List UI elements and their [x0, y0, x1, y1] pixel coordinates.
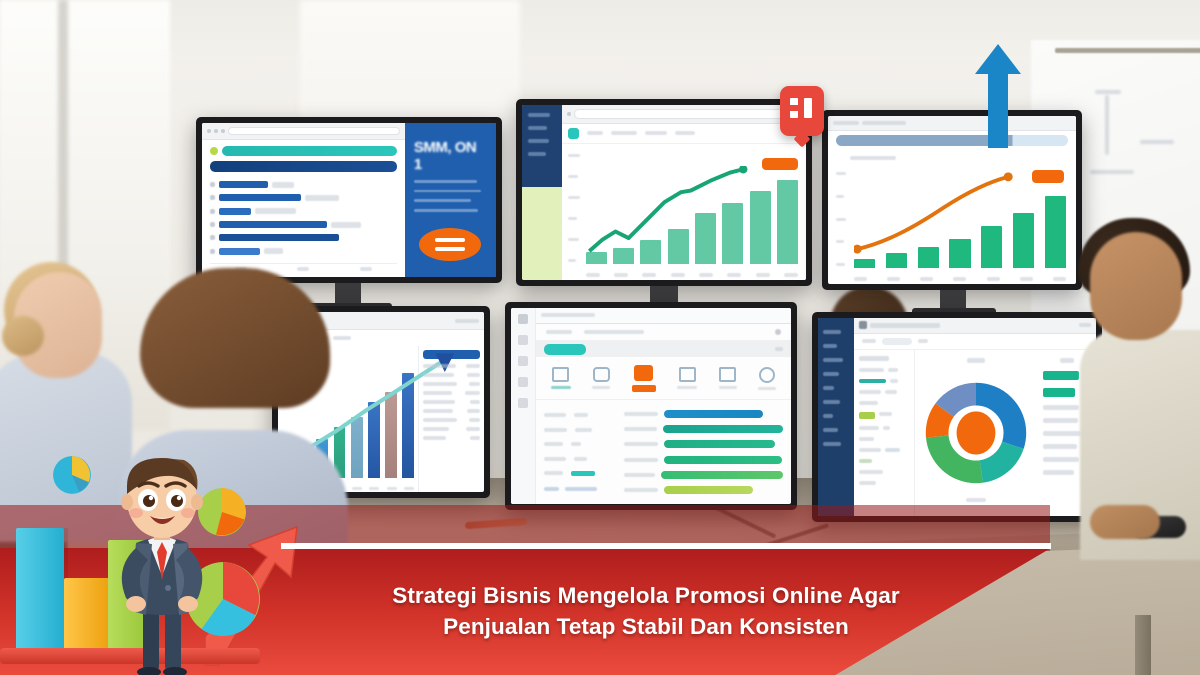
y-axis-tick: [568, 175, 578, 178]
legend-title: [1060, 358, 1074, 363]
legend-value: [467, 373, 480, 377]
calendar-icon: [719, 367, 736, 382]
menu-item[interactable]: [584, 330, 644, 334]
x-axis-tick: [586, 273, 600, 277]
hbar: [664, 456, 782, 464]
window-title: [870, 323, 940, 328]
field-label: [544, 428, 567, 432]
toolbar-item-chat[interactable]: [592, 367, 610, 389]
x-axis-tick: [1053, 277, 1066, 281]
toolbar-item-label: [677, 386, 697, 389]
banner-top-divider: [281, 543, 1051, 549]
hbar: [661, 471, 783, 479]
axis-tick-label: [360, 267, 372, 271]
list-label: [331, 222, 361, 228]
y-axis-tick: [836, 240, 844, 243]
sidebar-accent-panel: [522, 187, 562, 280]
rail-icon[interactable]: [518, 314, 528, 324]
field-label: [544, 457, 565, 461]
axis-tick-label: [297, 267, 309, 271]
filter-value: [885, 448, 900, 452]
menu-item[interactable]: [546, 330, 572, 334]
legend-label: [423, 409, 453, 413]
filter-value: [885, 390, 897, 394]
monitor-top-center: [516, 99, 812, 286]
filter-group-title: [859, 356, 889, 361]
monitor-top-left-screen[interactable]: SMM, ON 1: [202, 123, 496, 277]
field-label: [544, 442, 563, 446]
icon-toolbar[interactable]: [536, 357, 791, 400]
filter-item-active[interactable]: [859, 379, 886, 383]
legend-chip: [1043, 371, 1079, 380]
chart-tooltip: [1032, 170, 1064, 183]
menu-line-icon: [435, 238, 465, 242]
x-axis-tick: [614, 273, 628, 277]
legend-value: [465, 391, 480, 395]
person-man-right-head: [1090, 232, 1182, 340]
hbar: [663, 425, 783, 433]
toolbar-item-label: [632, 385, 656, 392]
rail-icon[interactable]: [518, 377, 528, 387]
field-label: [544, 471, 563, 475]
toolbar-label[interactable]: [918, 339, 928, 343]
row-bullet-icon: [210, 235, 215, 240]
donut-label: [966, 498, 986, 502]
list-label: [264, 248, 283, 254]
browser-bar[interactable]: [562, 105, 806, 124]
toolbar-item-label: [758, 387, 776, 390]
whiteboard-sketch: [1095, 90, 1121, 94]
toolbar-item-user[interactable]: [758, 367, 776, 390]
hbar-label: [624, 442, 658, 446]
donut-chart: [922, 379, 1030, 487]
banner-title-line-2: Penjualan Tetap Stabil Dan Konsisten: [296, 612, 996, 642]
monitor-top-right: [822, 110, 1082, 290]
bar: [750, 191, 771, 264]
progress-bar: [836, 135, 1068, 146]
grid-icon: [552, 367, 569, 382]
y-axis-tick: [568, 238, 579, 241]
user-icon: [759, 367, 775, 383]
legend-label: [423, 427, 449, 431]
legend-label: [423, 400, 455, 404]
list-bar: [219, 194, 301, 201]
toolbar-item-label: [719, 386, 737, 389]
url-bar[interactable]: [574, 109, 801, 118]
app-icon: [859, 321, 867, 329]
hbar-label: [624, 488, 658, 492]
legend-label: [1043, 470, 1074, 475]
toolbar-item-calendar[interactable]: [719, 367, 737, 389]
status-dot-icon: [210, 147, 218, 155]
legend-value: [470, 436, 480, 440]
x-axis-tick: [699, 273, 713, 277]
menu-line-icon: [435, 247, 465, 251]
cta-button[interactable]: [419, 228, 481, 261]
x-axis-tick: [756, 273, 770, 277]
monitor-stand: [940, 290, 966, 310]
monitor-stand: [335, 283, 361, 305]
filter-label[interactable]: [333, 336, 351, 340]
rail-icon[interactable]: [518, 335, 528, 345]
hbar: [664, 440, 775, 448]
row-bullet-icon: [210, 249, 215, 254]
legend-label: [1043, 444, 1077, 449]
filter-item[interactable]: [859, 459, 872, 463]
bar: [777, 180, 798, 265]
browser-dot-icon: [207, 129, 211, 133]
toolbar-item-label: [592, 386, 610, 389]
sidebar-text-line: [414, 199, 471, 202]
x-axis-tick: [727, 273, 741, 277]
tab-label[interactable]: [645, 131, 667, 135]
hbar-label: [624, 473, 656, 477]
legend-label: [423, 436, 446, 440]
field-value: [574, 413, 588, 417]
filter-value: [883, 426, 890, 430]
x-axis-tick: [352, 487, 362, 490]
tab-label[interactable]: [862, 121, 906, 125]
sidebar-text-line: [414, 209, 478, 212]
hbar-label: [624, 427, 657, 431]
filter-item[interactable]: [859, 390, 881, 394]
sidebar-heading: SMM, ON 1: [414, 139, 487, 173]
row-bullet-icon: [210, 182, 215, 187]
forecast-line: [854, 172, 1015, 268]
list-bar: [219, 234, 339, 241]
banner-title-text: Strategi Bisnis Mengelola Promosi Online…: [296, 581, 996, 641]
url-bar[interactable]: [228, 127, 400, 135]
trend-line: [586, 166, 750, 264]
y-axis-tick: [568, 217, 577, 220]
sidebar-nav-item[interactable]: [823, 400, 840, 404]
y-axis-tick: [836, 218, 846, 221]
legend-value: [466, 364, 480, 368]
monitor-top-left-sidebar[interactable]: SMM, ON 1: [405, 123, 496, 277]
toolbar-item-label: [551, 386, 571, 389]
legend-value: [469, 382, 480, 386]
toolbar-label[interactable]: [862, 339, 876, 343]
sidebar-nav-item[interactable]: [528, 126, 547, 130]
filter-item[interactable]: [859, 481, 876, 485]
toolbar-item-chart[interactable]: [677, 367, 697, 389]
monitor-bottom-center-screen[interactable]: [511, 308, 791, 504]
y-axis-tick: [836, 263, 845, 266]
sidebar-nav-item[interactable]: [528, 152, 546, 156]
chart-icon: [679, 367, 696, 382]
tab-label[interactable]: [833, 121, 859, 125]
list-label: [305, 195, 339, 201]
legend-label: [423, 382, 457, 386]
cartoon-businessman: [96, 448, 228, 675]
list-bar: [219, 181, 268, 188]
sidebar-nav-item[interactable]: [823, 358, 843, 362]
row-bullet-icon: [210, 222, 215, 227]
row-bullet-icon: [210, 209, 215, 214]
field-value: [575, 428, 592, 432]
toolbar-item-grid[interactable]: [551, 367, 571, 389]
x-axis-tick: [854, 277, 867, 281]
link-label[interactable]: [565, 487, 598, 491]
sidebar-nav-item[interactable]: [823, 344, 837, 348]
field-label: [544, 413, 565, 417]
sidebar-nav-item[interactable]: [823, 428, 838, 432]
y-axis-tick: [836, 172, 846, 175]
x-axis-tick: [887, 277, 900, 281]
browser-bar[interactable]: [828, 116, 1076, 131]
foreground-pie-small: [53, 456, 91, 494]
sidebar-nav-item[interactable]: [823, 442, 841, 446]
red-pin-badge-icon[interactable]: [780, 86, 824, 136]
browser-dot-icon: [221, 129, 225, 133]
hbar: [664, 486, 753, 494]
toolbar-item-cart[interactable]: [632, 365, 656, 392]
x-axis-tick: [784, 273, 798, 277]
browser-bar[interactable]: [202, 123, 405, 140]
sidebar-nav-item[interactable]: [528, 139, 549, 143]
screenshot-stage: SMM, ON 1: [0, 0, 1200, 675]
tab-label[interactable]: [675, 131, 695, 135]
filter-value: [890, 379, 898, 383]
hbar: [664, 410, 763, 418]
blue-up-arrow-icon: [975, 44, 1021, 148]
sidebar-text-line: [414, 180, 477, 183]
cart-icon: [634, 365, 653, 381]
x-axis-tick: [642, 273, 656, 277]
badge-glyph-icon: [804, 98, 812, 118]
banner-title-line-1: Strategi Bisnis Mengelola Promosi Online…: [296, 581, 996, 611]
chart-title: [850, 156, 896, 160]
filter-item[interactable]: [859, 401, 878, 405]
legend-value: [466, 427, 480, 431]
chart-tooltip: [762, 158, 798, 170]
link-label[interactable]: [544, 487, 558, 491]
app-logo-icon: [568, 128, 579, 139]
hbar-label: [624, 458, 658, 462]
legend-value: [470, 400, 480, 404]
sidebar-nav-item[interactable]: [528, 113, 550, 117]
filter-value: [879, 412, 892, 416]
y-axis-tick: [568, 259, 576, 262]
window-title: [541, 313, 595, 317]
row-bullet-icon: [210, 195, 215, 200]
bar: [1013, 213, 1034, 268]
field-value-highlight: [571, 471, 595, 476]
filter-item[interactable]: [859, 426, 879, 430]
x-axis-tick: [369, 487, 379, 490]
desk-leg: [1135, 615, 1151, 675]
legend-label: [423, 418, 457, 422]
field-value: [574, 457, 587, 461]
monitor-bottom-right: [812, 312, 1102, 522]
whiteboard-sketch: [1090, 170, 1134, 174]
toolbar-pill[interactable]: [882, 338, 912, 345]
sidebar-nav-item[interactable]: [823, 414, 833, 418]
monitor-top-center-screen[interactable]: [522, 105, 806, 280]
hbar-label: [624, 412, 658, 416]
legend-label: [1043, 418, 1078, 423]
y-axis-tick: [568, 196, 580, 199]
sidebar-nav-item[interactable]: [823, 386, 834, 390]
monitor-top-right-screen[interactable]: [828, 116, 1076, 284]
filter-item[interactable]: [859, 437, 874, 441]
toolbar-label[interactable]: [455, 319, 479, 323]
filter-item-highlight[interactable]: [859, 412, 875, 419]
x-axis-tick: [953, 277, 966, 281]
legend-value: [469, 418, 480, 422]
monitor-top-left: SMM, ON 1: [196, 117, 502, 283]
legend-label: [1043, 431, 1081, 436]
more-label[interactable]: [775, 347, 783, 351]
x-axis-tick: [671, 273, 685, 277]
header-row: [210, 161, 397, 172]
person-woman-hair-bun: [2, 316, 44, 356]
legend-chip: [1043, 388, 1075, 397]
tab-label[interactable]: [587, 131, 603, 135]
list-label: [272, 182, 294, 188]
filter-item[interactable]: [859, 368, 884, 372]
chat-icon: [593, 367, 610, 382]
badge-glyph-icon: [787, 105, 801, 111]
x-axis-tick: [1020, 277, 1033, 281]
filter-value: [888, 368, 898, 372]
bar: [1045, 196, 1066, 268]
active-tab-pill[interactable]: [544, 344, 586, 355]
browser-bar[interactable]: [854, 318, 1096, 334]
legend-label: [423, 373, 454, 377]
filter-item[interactable]: [859, 470, 883, 474]
whiteboard-sketch: [1105, 95, 1109, 155]
window-controls[interactable]: [1079, 323, 1091, 327]
donut-chart-title: [967, 358, 985, 363]
y-axis-tick: [836, 195, 844, 198]
foreground-bar-blue: [16, 528, 64, 660]
list-bar: [219, 208, 251, 215]
browser-bar[interactable]: [536, 308, 791, 324]
browser-dot-icon: [567, 112, 571, 116]
x-axis-tick: [987, 277, 1000, 281]
sidebar-nav-item[interactable]: [823, 330, 841, 334]
list-bar: [219, 221, 327, 228]
field-value: [571, 442, 581, 446]
legend-label: [423, 364, 456, 368]
x-axis-tick: [920, 277, 933, 281]
whiteboard-sketch: [1140, 140, 1174, 144]
rail-icon[interactable]: [518, 356, 528, 366]
tab-label[interactable]: [611, 131, 637, 135]
cursor-icon: [775, 329, 781, 335]
y-axis-tick: [568, 154, 580, 157]
sidebar-text-line: [414, 190, 481, 193]
legend-value: [467, 409, 480, 413]
list-bar: [219, 248, 260, 255]
highlight-row: [222, 146, 397, 156]
x-axis-tick: [404, 487, 414, 490]
person-man-right-hand: [1090, 505, 1160, 539]
legend-label: [423, 391, 451, 395]
list-label: [255, 208, 296, 214]
x-axis-tick: [387, 487, 397, 490]
rail-icon[interactable]: [518, 398, 528, 408]
legend-label: [1043, 457, 1080, 462]
filter-item[interactable]: [859, 448, 881, 452]
monitor-bottom-right-screen[interactable]: [818, 318, 1096, 516]
legend-label: [1043, 405, 1080, 410]
sidebar-nav-item[interactable]: [823, 372, 839, 376]
whiteboard-rail: [1055, 48, 1200, 53]
browser-dot-icon: [214, 129, 218, 133]
monitor-bottom-center: [505, 302, 797, 510]
